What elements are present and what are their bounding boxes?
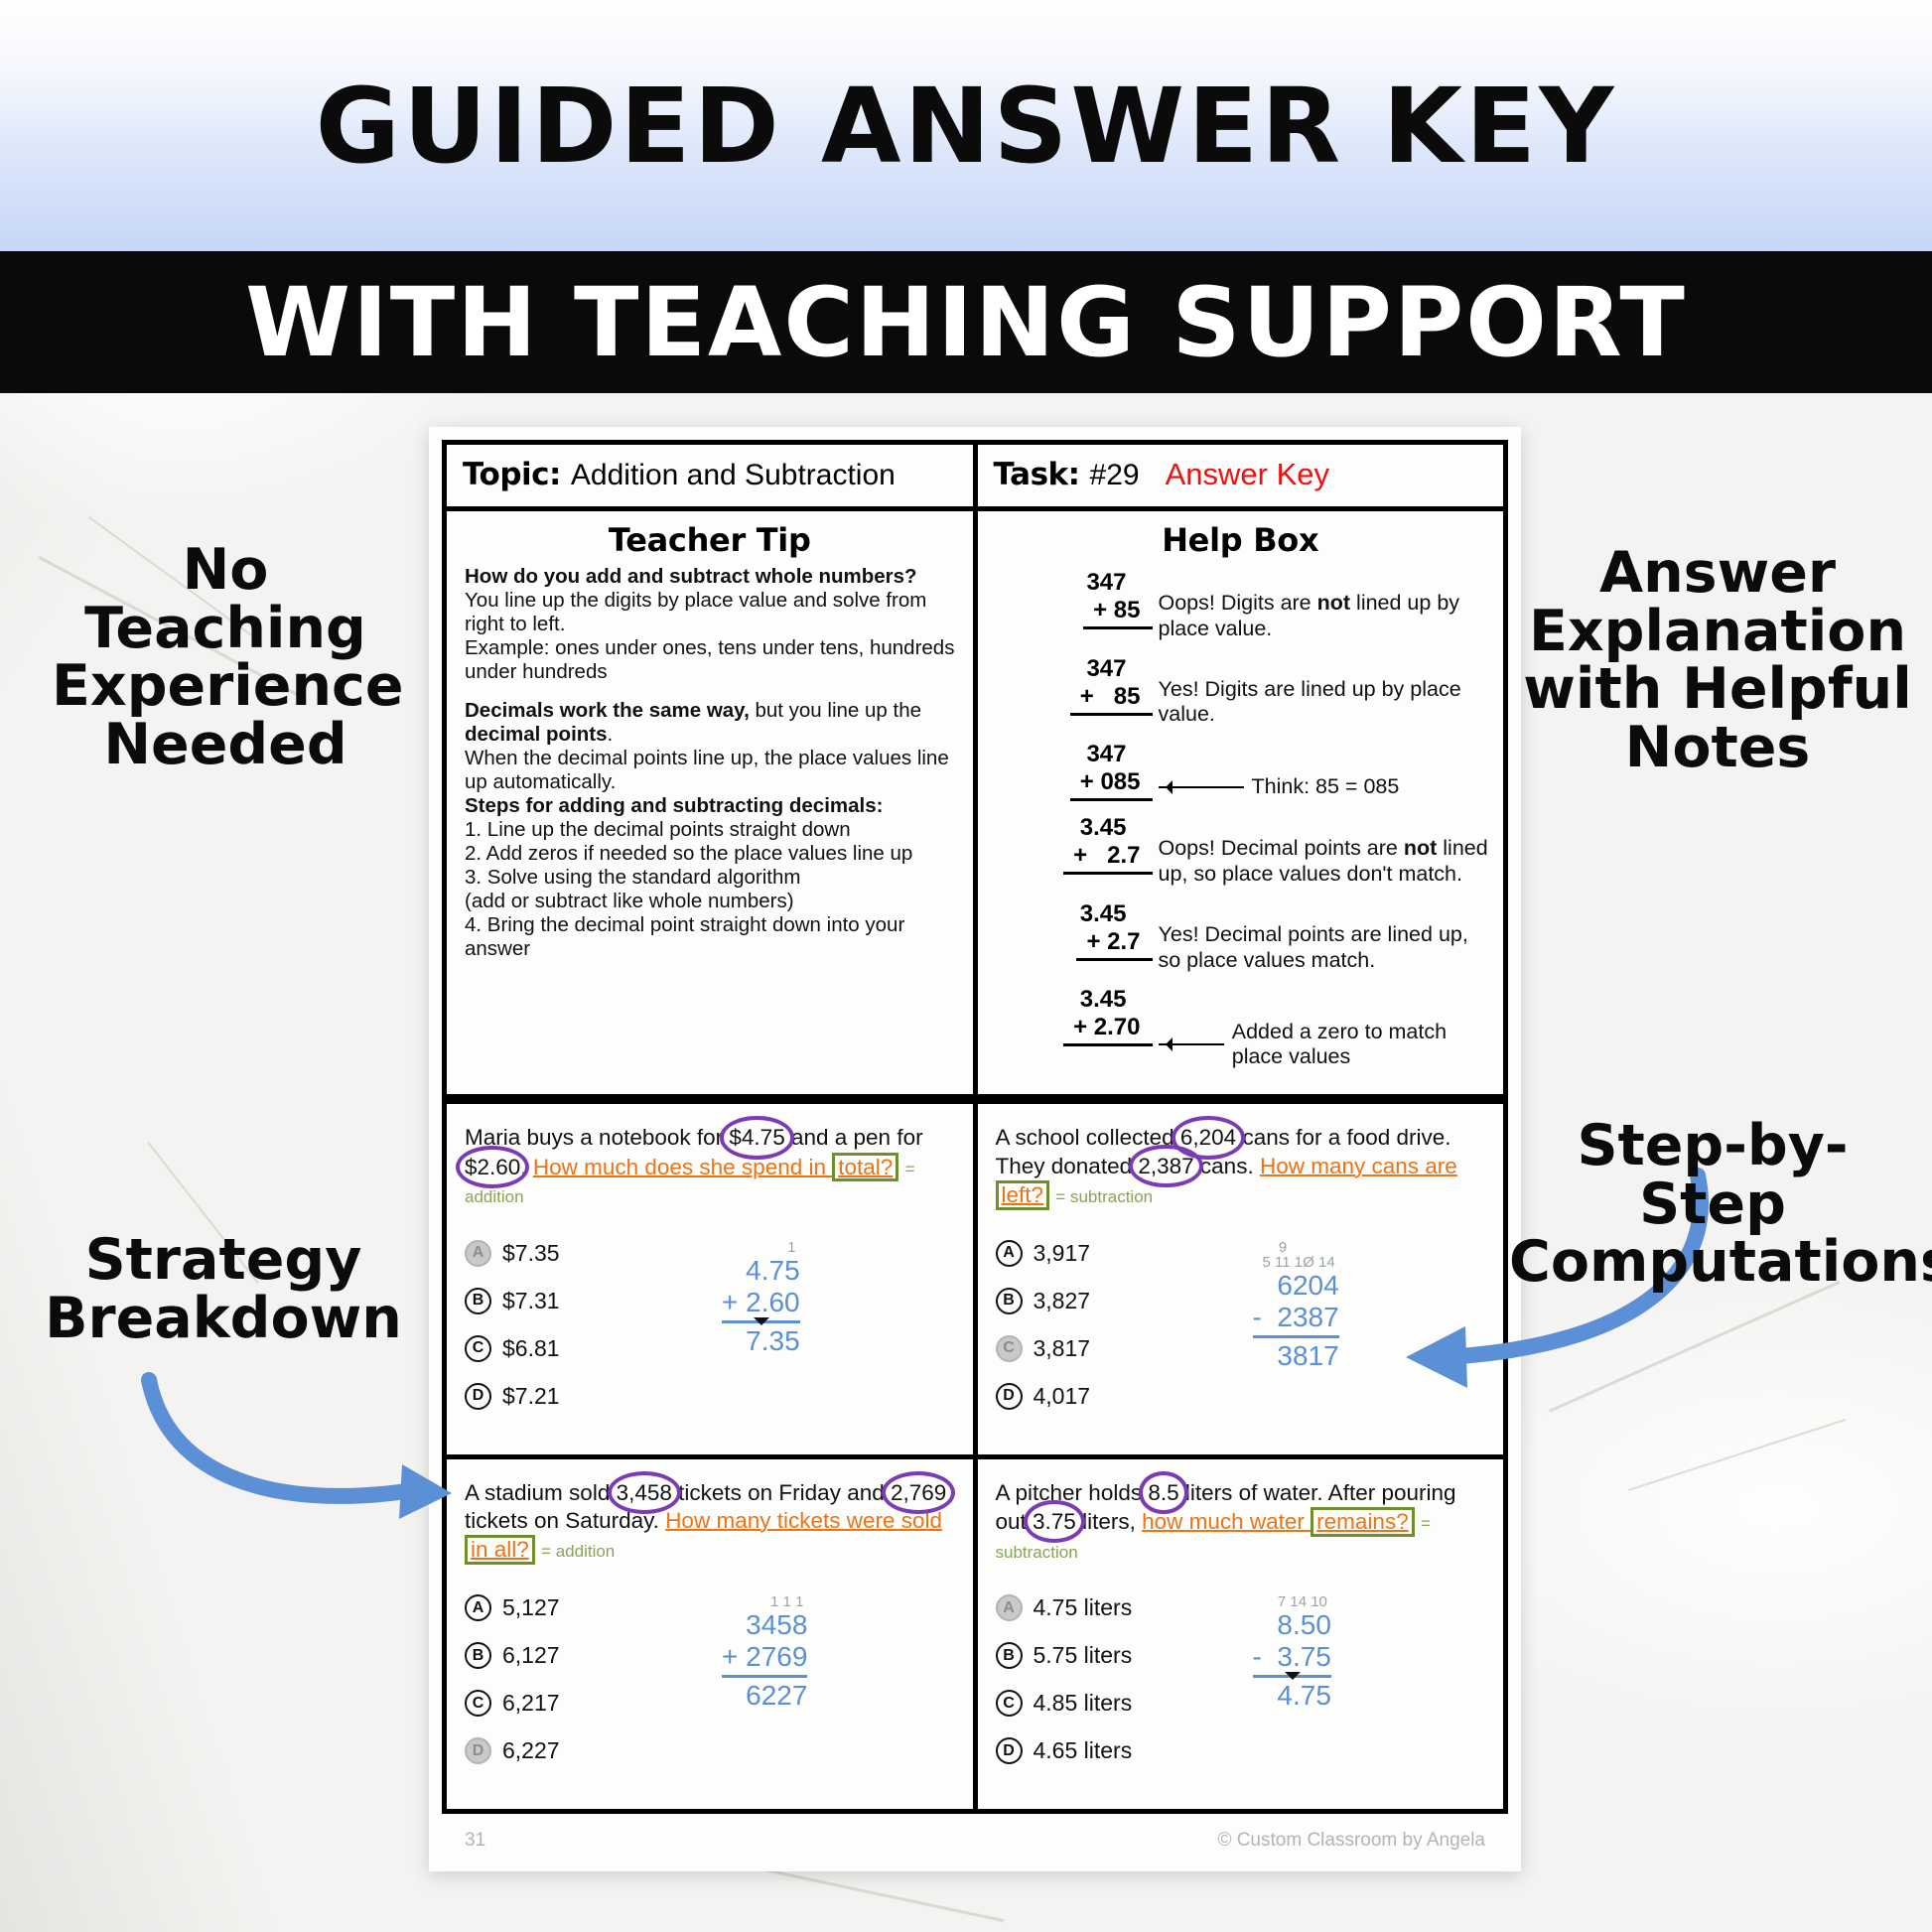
choice-bubble-icon[interactable]: D (996, 1737, 1023, 1764)
question-text-part: and a pen for (785, 1125, 923, 1150)
circled-number: 2,387 (1138, 1153, 1193, 1180)
help-box-calculation: 3.45+ 2.7 (992, 814, 1159, 875)
choice-label: $6.81 (502, 1335, 560, 1362)
top-banner: GUIDED ANSWER KEY (0, 0, 1932, 251)
left-arrow-icon (1159, 786, 1244, 788)
circled-number: $4.75 (729, 1124, 784, 1152)
choice-bubble-icon[interactable]: B (465, 1642, 491, 1669)
choice-label: $7.35 (502, 1240, 560, 1267)
page-number: 31 (465, 1830, 485, 1852)
circled-number: $2.60 (465, 1154, 520, 1181)
help-calc-bottom: + 2.7 (992, 928, 1153, 961)
choice-label: 5.75 liters (1034, 1642, 1133, 1669)
circled-number: 3,458 (617, 1479, 672, 1507)
choice-bubble-icon[interactable]: A (996, 1594, 1023, 1621)
annotation-line: Notes (1625, 715, 1811, 780)
choice-bubble-icon[interactable]: D (465, 1383, 491, 1410)
answer-block: A$7.35B$7.31C$6.81D$7.2114.75+ 2.607.35 (465, 1240, 955, 1431)
tip-steps-heading-text: Steps for adding and subtracting decimal… (465, 794, 883, 817)
worksheet-page: Topic: Addition and Subtraction Task: #2… (429, 427, 1521, 1871)
teacher-tip-body: How do you add and subtract whole number… (447, 565, 973, 975)
help-calc-top: 347 (992, 569, 1153, 597)
help-box-calculation: 3.45+ 2.70 (992, 986, 1159, 1046)
answer-choice-d[interactable]: D6,227 (465, 1737, 708, 1764)
keyword-text: remains? (1316, 1509, 1409, 1534)
answer-choice-d[interactable]: D4.65 liters (996, 1737, 1239, 1764)
work-operation: - 2387 (1253, 1302, 1339, 1338)
tip-step-4: 4. Bring the decimal point straight down… (465, 913, 958, 961)
answer-block: A5,127B6,127C6,217D6,2271 1 13458+ 27696… (465, 1594, 955, 1785)
tip-step-3a: 3. Solve using the standard algorithm (465, 866, 958, 890)
work-result: 4.75 (1253, 1678, 1331, 1712)
keyword-box: remains? (1311, 1507, 1415, 1537)
choice-bubble-icon[interactable]: D (996, 1383, 1023, 1410)
tip-line-2: Example: ones under ones, tens under ten… (465, 636, 958, 684)
choice-label: 4.85 liters (1034, 1690, 1133, 1717)
choice-bubble-icon[interactable]: C (465, 1335, 491, 1362)
carry-marks: 7 14 10 (1253, 1594, 1331, 1609)
choice-bubble-icon[interactable]: D (465, 1737, 491, 1764)
task-label: Task: (994, 457, 1080, 492)
work-result: 7.35 (722, 1323, 800, 1357)
help-note: Oops! Decimal points are not lined up, s… (1159, 814, 1494, 888)
help-calc-top: 3.45 (992, 986, 1153, 1014)
tip-decimals-bold2: decimal points (465, 723, 608, 746)
tip-decimals-rest: but you line up the (750, 699, 921, 722)
answer-choices: A5,127B6,127C6,217D6,227 (465, 1594, 708, 1785)
help-box-row: 347+ 85Yes! Digits are lined up by place… (992, 655, 1494, 729)
tip-step-1: 1. Line up the decimal points straight d… (465, 818, 958, 842)
keyword-box: in all? (465, 1535, 535, 1565)
question-row-1: Maria buys a notebook for $4.75 and a pe… (447, 1099, 1503, 1453)
work-top-number: 4.75 (722, 1255, 800, 1287)
answer-choice-b[interactable]: B$7.31 (465, 1288, 708, 1314)
topic-label: Topic: (463, 457, 561, 492)
help-think-text: Added a zero to match place values (1232, 1020, 1493, 1069)
topic-cell: Topic: Addition and Subtraction (447, 445, 978, 506)
question-text: Maria buys a notebook for $4.75 and a pe… (465, 1124, 955, 1209)
worksheet-header: Topic: Addition and Subtraction Task: #2… (447, 445, 1503, 511)
annotation-line: No (183, 537, 269, 603)
help-calc-top: 347 (992, 655, 1153, 683)
help-note: Yes! Decimal points are lined up, so pla… (1159, 900, 1494, 974)
carry-marks: 1 1 1 (722, 1594, 807, 1609)
choice-label: 3,827 (1034, 1288, 1091, 1314)
choice-bubble-icon[interactable]: C (996, 1690, 1023, 1717)
circled-number: 8.5 (1148, 1479, 1178, 1507)
strategy-tag: = subtraction (1055, 1187, 1153, 1206)
annotation-line: Teaching (84, 596, 366, 661)
question-cell-q2: A school collected 6,204 cans for a food… (978, 1104, 1504, 1453)
question-highlight: How much does she spend in (533, 1155, 832, 1179)
help-think-text: Think: 85 = 085 (1252, 774, 1400, 799)
regroup-mark: 9 (1253, 1240, 1313, 1255)
choice-bubble-icon[interactable]: A (465, 1594, 491, 1621)
answer-choice-a[interactable]: A4.75 liters (996, 1594, 1239, 1621)
teacher-tip-panel: Teacher Tip How do you add and subtract … (447, 511, 978, 1094)
help-think-annotation: Added a zero to match place values (1159, 986, 1494, 1069)
help-box-calculation: 347+ 85 (992, 569, 1159, 629)
answer-choice-c[interactable]: C4.85 liters (996, 1690, 1239, 1717)
help-calc-bottom: + 085 (992, 768, 1153, 801)
answer-choices: A$7.35B$7.31C$6.81D$7.21 (465, 1240, 708, 1431)
annotation-step-by-step: Step-by-Step Computations (1509, 1117, 1916, 1292)
annotation-line: Needed (103, 712, 346, 777)
help-calc-top: 3.45 (992, 814, 1153, 842)
worked-solution: 95 11 1Ø 146204- 23873817 (1239, 1240, 1486, 1431)
task-value: #29 (1090, 459, 1140, 492)
worked-solution: 1 1 13458+ 27696227 (708, 1594, 955, 1785)
answer-choice-b[interactable]: B5.75 liters (996, 1642, 1239, 1669)
left-arrow-icon (1159, 1043, 1224, 1045)
help-box-calculation: 347+ 85 (992, 655, 1159, 716)
annotation-line: Step-by-Step (1577, 1113, 1848, 1237)
choice-label: $7.21 (502, 1383, 560, 1410)
choice-bubble-icon[interactable]: C (465, 1690, 491, 1717)
answer-choice-b[interactable]: B6,127 (465, 1642, 708, 1669)
question-cell-q3: A stadium sold 3,458 tickets on Friday a… (447, 1459, 978, 1809)
help-box-panel: Help Box 347+ 85Oops! Digits are not lin… (978, 511, 1504, 1094)
annotation-line: Answer (1599, 540, 1836, 606)
help-calc-top: 3.45 (992, 900, 1153, 928)
choice-bubble-icon[interactable]: C (996, 1335, 1023, 1362)
work-result: 6227 (722, 1678, 807, 1712)
help-calc-bottom: + 2.7 (992, 842, 1153, 875)
choice-bubble-icon[interactable]: B (996, 1642, 1023, 1669)
question-text-part: A pitcher holds (996, 1480, 1149, 1505)
worksheet-frame: Topic: Addition and Subtraction Task: #2… (442, 440, 1508, 1814)
annotation-line: Breakdown (45, 1286, 402, 1351)
choice-label: 6,217 (502, 1690, 560, 1717)
tip-step-2: 2. Add zeros if needed so the place valu… (465, 842, 958, 866)
question-text: A school collected 6,204 cans for a food… (996, 1124, 1486, 1209)
answer-choice-a[interactable]: A5,127 (465, 1594, 708, 1621)
tip-steps-heading: Steps for adding and subtracting decimal… (465, 794, 958, 818)
choice-label: 3,817 (1034, 1335, 1091, 1362)
strategy-tag: = addition (541, 1542, 615, 1561)
answer-choices: A3,917B3,827C3,817D4,017 (996, 1240, 1239, 1431)
answer-block: A4.75 litersB5.75 litersC4.85 litersD4.6… (996, 1594, 1486, 1785)
work-result: 3817 (1253, 1338, 1339, 1372)
help-box-row: 347+ 85Oops! Digits are not lined up by … (992, 569, 1494, 642)
help-calc-bottom: + 2.70 (992, 1014, 1153, 1046)
question-text: A pitcher holds 8.5 liters of water. Aft… (996, 1479, 1486, 1565)
copyright-text: © Custom Classroom by Angela (1217, 1830, 1485, 1852)
choice-label: $7.31 (502, 1288, 560, 1314)
choice-bubble-icon[interactable]: A (996, 1240, 1023, 1267)
answer-choice-c[interactable]: C6,217 (465, 1690, 708, 1717)
annotation-line: Strategy (85, 1227, 362, 1293)
tip-question: How do you add and subtract whole number… (465, 565, 958, 589)
help-note: Yes! Digits are lined up by place value. (1159, 655, 1494, 729)
help-calc-bottom: + 85 (992, 683, 1153, 716)
tip-decimals: Decimals work the same way, but you line… (465, 699, 958, 747)
help-box-calculation: 347+ 085 (992, 741, 1159, 801)
question-cell-q4: A pitcher holds 8.5 liters of water. Aft… (978, 1459, 1504, 1809)
choice-label: 5,127 (502, 1594, 560, 1621)
decimal-point-arrow-icon (1285, 1672, 1301, 1688)
page-title: GUIDED ANSWER KEY (316, 66, 1617, 187)
help-box-row: 3.45+ 2.7Yes! Decimal points are lined u… (992, 900, 1494, 974)
annotation-line: Experience (52, 653, 404, 719)
work-top-number: 3458 (722, 1609, 807, 1641)
choice-label: 6,127 (502, 1642, 560, 1669)
worked-solution: 14.75+ 2.607.35 (708, 1240, 955, 1431)
question-row-2: A stadium sold 3,458 tickets on Friday a… (447, 1454, 1503, 1809)
choice-bubble-icon[interactable]: B (996, 1288, 1023, 1314)
choice-label: 4.65 liters (1034, 1737, 1133, 1764)
help-note: Oops! Digits are not lined up by place v… (1159, 569, 1494, 642)
task-cell: Task: #29 Answer Key (978, 445, 1504, 506)
question-highlight: How many tickets were sold (665, 1508, 942, 1533)
keyword-box: total? (832, 1153, 898, 1182)
annotation-line: Explanation (1529, 599, 1906, 664)
help-calc-top: 347 (992, 741, 1153, 768)
help-box-row: 3.45+ 2.7Oops! Decimal points are not li… (992, 814, 1494, 888)
answer-key-badge: Answer Key (1166, 457, 1329, 492)
tip-step-3b: (add or subtract like whole numbers) (465, 890, 958, 913)
tip-question-text: How do you add and subtract whole number… (465, 565, 917, 588)
keyword-text: left? (1002, 1182, 1044, 1207)
decimal-point-arrow-icon (754, 1317, 769, 1333)
keyword-text: in all? (471, 1537, 529, 1562)
choice-label: 3,917 (1034, 1240, 1091, 1267)
work-operation: + 2769 (722, 1641, 807, 1678)
choice-label: 4.75 liters (1034, 1594, 1133, 1621)
answer-choice-d[interactable]: D$7.21 (465, 1383, 708, 1410)
help-box-heading: Help Box (978, 511, 1504, 565)
worked-solution: 7 14 108.50- 3.754.75 (1239, 1594, 1486, 1785)
carry-marks: 1 (722, 1240, 800, 1255)
annotation-answer-explanation: Answer Explanation with Helpful Notes (1519, 544, 1916, 777)
keyword-box: left? (996, 1180, 1050, 1210)
annotation-strategy-breakdown: Strategy Breakdown (40, 1231, 407, 1347)
circled-number: 3.75 (1033, 1508, 1076, 1536)
answer-choice-d[interactable]: D4,017 (996, 1383, 1239, 1410)
choice-bubble-icon[interactable]: B (465, 1288, 491, 1314)
help-box-row: 3.45+ 2.70Added a zero to match place va… (992, 986, 1494, 1069)
subtitle-banner: WITH TEACHING SUPPORT (0, 251, 1932, 393)
help-calc-bottom: + 85 (992, 597, 1153, 629)
answer-choice-a[interactable]: A3,917 (996, 1240, 1239, 1267)
question-text-part: A stadium sold (465, 1480, 617, 1505)
circled-number: 2,769 (891, 1479, 946, 1507)
page-subtitle: WITH TEACHING SUPPORT (245, 267, 1687, 378)
tip-decimals-end: . (608, 723, 614, 746)
teacher-tip-heading: Teacher Tip (447, 511, 973, 565)
topic-value: Addition and Subtraction (571, 459, 896, 492)
answer-choices: A4.75 litersB5.75 litersC4.85 litersD4.6… (996, 1594, 1239, 1785)
work-top-number: 8.50 (1253, 1609, 1331, 1641)
question-highlight: How many cans are (1260, 1154, 1457, 1178)
tip-decimals-bold: Decimals work the same way, (465, 699, 750, 722)
question-text: A stadium sold 3,458 tickets on Friday a… (465, 1479, 955, 1565)
answer-choice-b[interactable]: B3,827 (996, 1288, 1239, 1314)
choice-label: 4,017 (1034, 1383, 1091, 1410)
keyword-text: total? (838, 1155, 893, 1179)
answer-block: A3,917B3,827C3,817D4,01795 11 1Ø 146204-… (996, 1240, 1486, 1431)
annotation-line: Computations (1509, 1229, 1932, 1295)
answer-choice-a[interactable]: A$7.35 (465, 1240, 708, 1267)
help-box-body: 347+ 85Oops! Digits are not lined up by … (978, 565, 1504, 1094)
worksheet-footer: 31 © Custom Classroom by Angela (429, 1830, 1521, 1871)
tip-line-3: When the decimal points line up, the pla… (465, 747, 958, 794)
annotation-line: with Helpful (1523, 656, 1912, 722)
choice-label: 6,227 (502, 1737, 560, 1764)
help-think-annotation: Think: 85 = 085 (1159, 741, 1400, 799)
carry-marks: 5 11 1Ø 14 (1253, 1255, 1339, 1270)
question-cell-q1: Maria buys a notebook for $4.75 and a pe… (447, 1104, 978, 1453)
question-text-part: tickets on Friday and (672, 1480, 891, 1505)
help-box-row: 347+ 085Think: 85 = 085 (992, 741, 1494, 801)
help-box-calculation: 3.45+ 2.7 (992, 900, 1159, 961)
annotation-no-teaching-experience: No Teaching Experience Needed (52, 541, 399, 774)
work-top-number: 6204 (1253, 1270, 1339, 1302)
tip-and-help-row: Teacher Tip How do you add and subtract … (447, 511, 1503, 1099)
answer-choice-c[interactable]: C3,817 (996, 1335, 1239, 1362)
tip-line-1: You line up the digits by place value an… (465, 589, 958, 636)
question-text-part: liters, (1076, 1509, 1142, 1534)
answer-choice-c[interactable]: C$6.81 (465, 1335, 708, 1362)
choice-bubble-icon[interactable]: A (465, 1240, 491, 1267)
